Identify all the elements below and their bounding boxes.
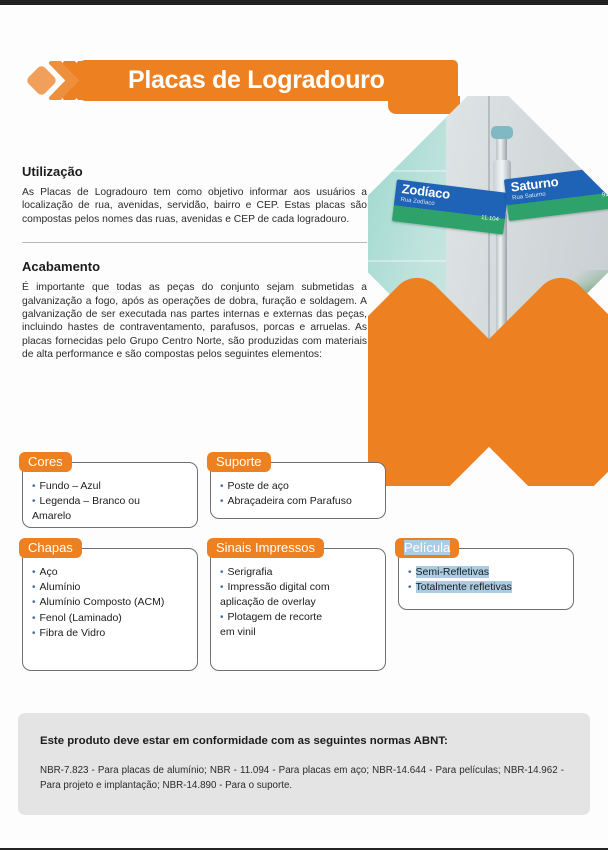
panel-suporte-label: Suporte xyxy=(207,452,271,472)
list-item: Alumínio xyxy=(32,580,188,595)
list-item: Legenda – Branco ou xyxy=(32,494,188,509)
header-banner: Placas de Logradouro xyxy=(80,60,458,101)
selected-text: Semi-Refletivas xyxy=(416,566,490,578)
list-item: Serigrafia xyxy=(220,565,376,580)
panel-chapas: Chapas Aço Alumínio Alumínio Composto (A… xyxy=(22,548,198,671)
chevron-diamond-logo-icon xyxy=(24,60,134,101)
list-item: Alumínio Composto (ACM) xyxy=(32,595,188,610)
panel-chapas-body: Aço Alumínio Alumínio Composto (ACM) Fen… xyxy=(23,549,197,649)
abnt-note-text: NBR-7.823 - Para placas de alumínio; NBR… xyxy=(40,764,564,793)
section-utilizacao: Utilização As Placas de Logradouro tem c… xyxy=(22,164,367,226)
list-item-continuation: Amarelo xyxy=(32,509,188,523)
section-acabamento-body: É importante que todas as peças do conju… xyxy=(22,281,367,361)
top-edge-strip xyxy=(0,0,608,5)
panel-sinais-impressos-body: Serigrafia Impressão digital com aplicaç… xyxy=(211,549,385,647)
list-item: Fibra de Vidro xyxy=(32,626,188,641)
panel-pelicula-label-text: Película xyxy=(404,540,450,555)
panel-suporte: Suporte Poste de aço Abraçadeira com Par… xyxy=(210,462,386,519)
section-utilizacao-title: Utilização xyxy=(22,164,367,179)
list-item: Abraçadeira com Parafuso xyxy=(220,494,376,509)
pole-cap xyxy=(491,126,513,139)
panel-pelicula: Película Semi-Refletivas Totalmente refl… xyxy=(398,548,574,610)
selected-text: Totalmente refletivas xyxy=(416,581,512,593)
list-item-continuation: em vinil xyxy=(220,625,376,639)
section-utilizacao-body: As Placas de Logradouro tem como objetiv… xyxy=(22,186,367,226)
section-divider xyxy=(22,242,367,243)
list-item: Semi-Refletivas xyxy=(408,565,564,580)
abnt-note-title: Este produto deve estar em conformidade … xyxy=(40,735,564,747)
panel-sinais-impressos-label: Sinais Impressos xyxy=(207,538,324,558)
abnt-norms-note: Este produto deve estar em conformidade … xyxy=(18,713,590,815)
list-item: Fenol (Laminado) xyxy=(32,611,188,626)
panel-cores-label: Cores xyxy=(19,452,72,472)
content-column: Utilização As Placas de Logradouro tem c… xyxy=(22,164,367,362)
list-item: Impressão digital com xyxy=(220,580,376,595)
panel-cores-body: Fundo – Azul Legenda – Branco ou Amarelo xyxy=(23,463,197,532)
section-acabamento-title: Acabamento xyxy=(22,259,367,274)
list-item: Totalmente refletivas xyxy=(408,580,564,595)
panel-pelicula-label: Película xyxy=(395,538,459,558)
page-header: Placas de Logradouro xyxy=(24,60,458,101)
page-root: Zodíaco Rua Zodíaco 11.104 Saturno Rua S… xyxy=(0,0,608,850)
hero-artwork: Zodíaco Rua Zodíaco 11.104 Saturno Rua S… xyxy=(368,96,608,486)
list-item: Fundo – Azul xyxy=(32,479,188,494)
list-item: Aço xyxy=(32,565,188,580)
panel-cores: Cores Fundo – Azul Legenda – Branco ou A… xyxy=(22,462,198,528)
list-item: Poste de aço xyxy=(220,479,376,494)
panel-chapas-label: Chapas xyxy=(19,538,82,558)
panel-sinais-impressos: Sinais Impressos Serigrafia Impressão di… xyxy=(210,548,386,671)
list-item: Plotagem de recorte xyxy=(220,610,376,625)
section-acabamento: Acabamento É importante que todas as peç… xyxy=(22,259,367,361)
list-item-continuation: aplicação de overlay xyxy=(220,595,376,609)
